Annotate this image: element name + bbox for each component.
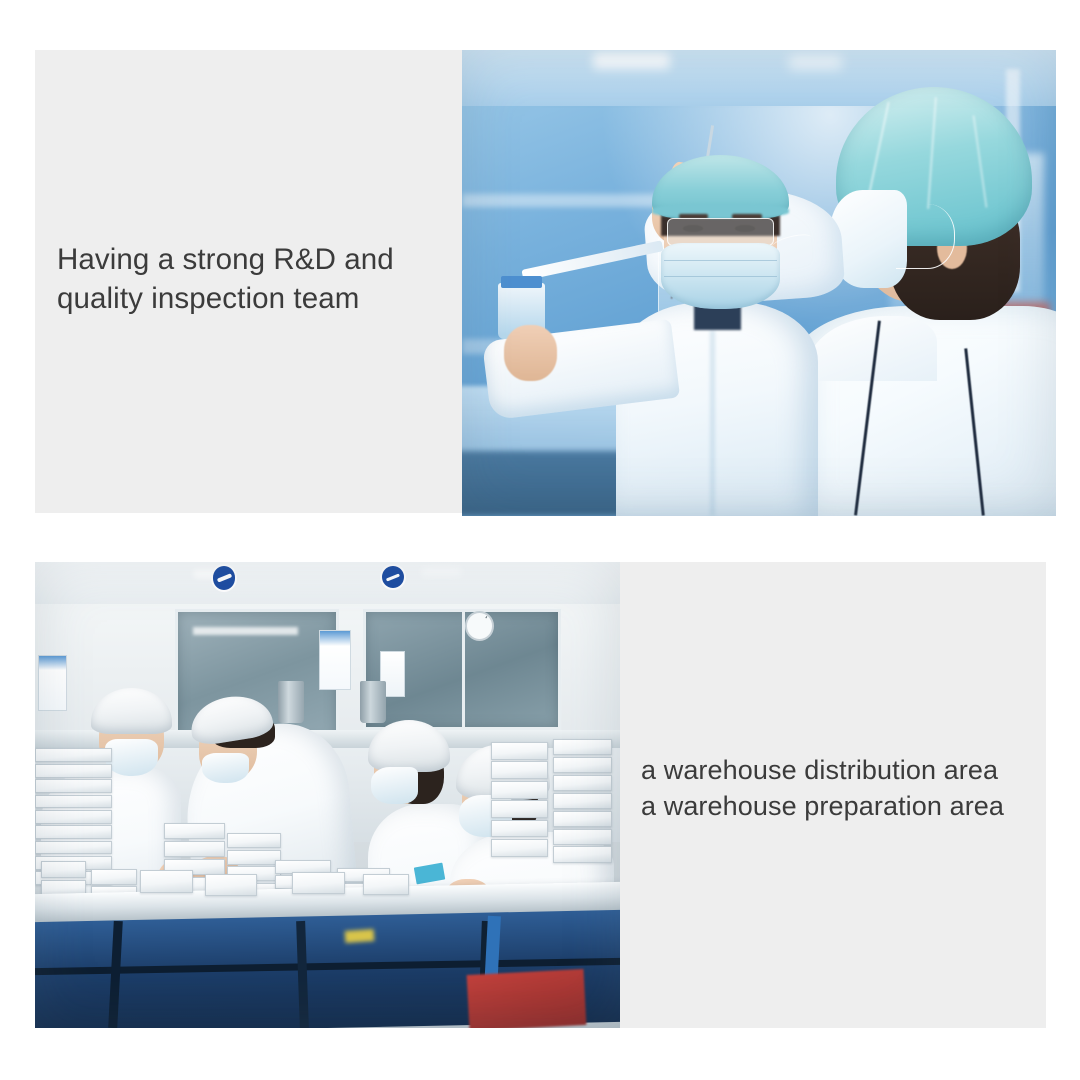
carton [91,869,137,885]
steel-canister-2 [360,681,386,723]
reagent-bottle-cap [501,276,543,288]
technician-left-hand [504,325,557,381]
carton [553,829,612,845]
carton [553,775,612,791]
warehouse-ceiling [35,562,620,604]
carton [491,839,548,857]
carton [491,820,548,838]
lab-scene [462,50,1056,516]
carton [35,825,112,839]
carton-on-table [363,874,410,895]
technician-right-mask-strap [896,204,955,269]
mask-pleat-2 [664,276,777,277]
carton [35,795,112,809]
warehouse-packing-photo [35,562,620,1028]
carton [553,757,612,773]
wall-notice-poster-2 [38,655,67,711]
carton [553,793,612,809]
packer-3-face-mask [371,767,418,804]
rd-quality-caption: Having a strong R&D and quality inspecti… [57,240,457,318]
wall-notice-poster [319,630,351,691]
packer-2-face-mask [202,753,249,783]
carton [41,861,87,878]
warehouse-scene [35,562,620,1028]
carton-on-table [292,872,345,894]
lab-shelf-upper [462,194,676,206]
carton [553,739,612,755]
ceiling-light-icon [593,52,670,68]
carton [491,781,548,799]
carton [553,846,612,862]
carton [491,742,548,760]
carton [491,761,548,779]
carton [35,748,112,762]
carton [491,800,548,818]
product-detail-page: Having a strong R&D and quality inspecti… [0,0,1080,1080]
lab-technicians-photo [462,50,1056,516]
warehouse-ceiling-light-2-icon [421,567,462,575]
carton [227,850,281,865]
rd-quality-section: Having a strong R&D and quality inspecti… [0,0,1080,540]
yellow-floor-marking [345,929,375,943]
box-stack-right-tall [491,739,620,888]
carton-on-table [140,870,193,893]
red-garment [467,969,587,1028]
carton [164,823,225,839]
window-light-strip [193,627,298,634]
steel-canister [278,681,304,723]
technician-left-coat-fold [711,330,714,516]
carton-on-table [205,874,258,895]
carton [35,810,112,824]
carton [227,833,281,848]
mask-pleat-1 [664,260,777,261]
wall-clock-icon [465,611,494,641]
ceiling-light-secondary-icon [789,55,842,69]
carton [553,811,612,827]
safety-glasses-icon [667,218,774,246]
carton [35,764,112,778]
clock-hand [486,616,487,618]
technician-left-hairnet-band [652,204,789,218]
warehouse-caption: a warehouse distribution area a warehous… [641,752,1051,824]
carton [35,779,112,793]
warehouse-section: a warehouse distribution area a warehous… [0,540,1080,1080]
